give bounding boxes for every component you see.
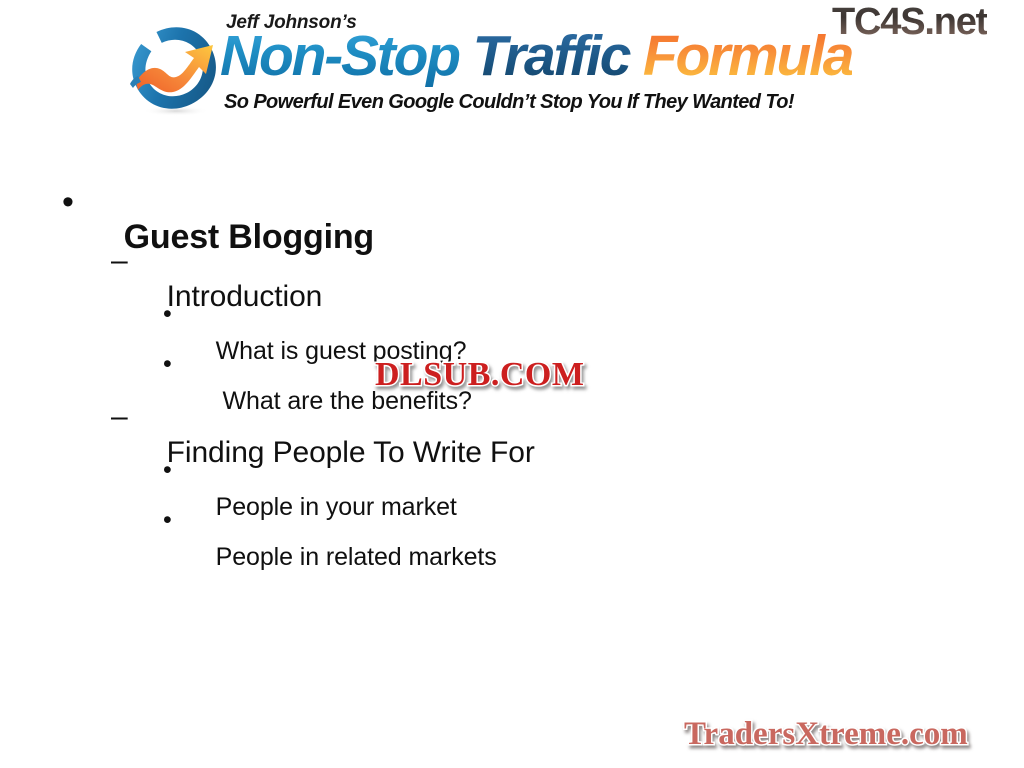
brand-tagline: So Powerful Even Google Couldn’t Stop Yo… (224, 91, 794, 114)
wordmark-non-stop: Non-Stop (220, 24, 472, 88)
bullet-marker-icon: • (163, 344, 172, 384)
bullet-item-people-in-your-market: • People in your market (0, 450, 1024, 500)
bullet-text: People in related markets (216, 536, 497, 578)
bullet-item-what-is-guest-posting: • What is guest posting? (0, 294, 1024, 344)
bullet-marker-icon: • (163, 450, 172, 490)
bullet-marker-icon: • (62, 179, 74, 225)
bullet-marker-icon: – (111, 239, 128, 283)
bullet-item-people-in-related-markets: • People in related markets (0, 500, 1024, 550)
swoosh-arrow-logo-icon (122, 22, 226, 118)
wordmark-formula: Formula (643, 24, 852, 88)
watermark-dlsub: DLSUB.COM (375, 356, 584, 394)
slide-canvas: Jeff Johnson’s Non-Stop Traffic Formula … (0, 0, 1024, 768)
watermark-tc4s: TC4S.net (832, 2, 987, 42)
bullet-item-introduction: – Introduction (0, 238, 1024, 294)
bullet-marker-icon: – (111, 395, 128, 439)
bullet-marker-icon: • (163, 500, 172, 540)
brand-logo: Jeff Johnson’s Non-Stop Traffic Formula … (122, 6, 892, 124)
bullet-item-guest-blogging: • Guest Blogging (0, 176, 1024, 238)
wordmark-traffic: Traffic (472, 24, 642, 88)
brand-wordmark: Non-Stop Traffic Formula (220, 28, 852, 85)
bullet-marker-icon: • (163, 294, 172, 334)
watermark-tradersxtreme: TradersXtreme.com (684, 714, 968, 754)
bullet-item-finding-people-to-write-for: – Finding People To Write For (0, 394, 1024, 450)
